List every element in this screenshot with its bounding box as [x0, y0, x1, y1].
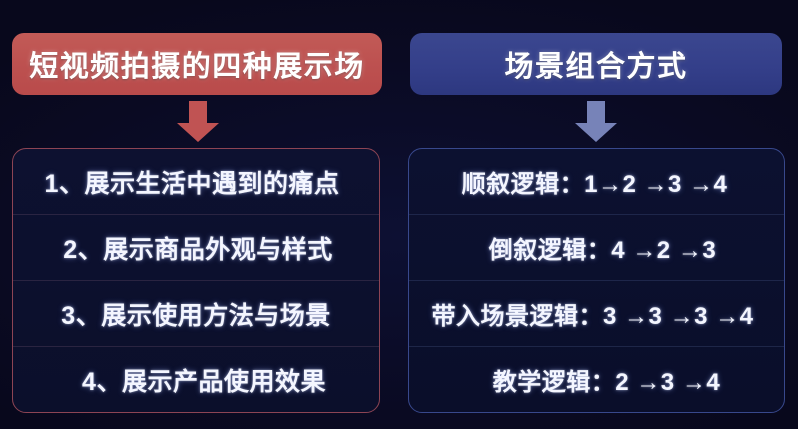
left-panel: 1、展示生活中遇到的痛点 2、展示商品外观与样式 3、展示使用方法与场景 4、展…	[12, 148, 380, 413]
list-item: 3、展示使用方法与场景	[13, 280, 379, 346]
right-item-label-4: 教学逻辑：2 →3 →4	[493, 362, 720, 397]
right-header-banner: 场景组合方式	[410, 33, 782, 95]
list-item: 4、展示产品使用效果	[13, 346, 379, 412]
slide-canvas: 短视频拍摄的四种展示场 1、展示生活中遇到的痛点 2、展示商品外观与样式 3、展…	[0, 0, 798, 429]
left-header-title: 短视频拍摄的四种展示场	[29, 43, 365, 85]
list-item: 顺叙逻辑：1→2 →3 →4	[409, 149, 784, 214]
list-item: 1、展示生活中遇到的痛点	[13, 149, 379, 214]
list-item: 倒叙逻辑：4 →2 →3	[409, 214, 784, 280]
left-item-label-4: 4、展示产品使用效果	[82, 362, 326, 398]
left-item-label-1: 1、展示生活中遇到的痛点	[45, 164, 340, 200]
left-down-arrow-icon	[176, 101, 220, 143]
right-down-arrow-icon	[574, 101, 618, 143]
left-header-banner: 短视频拍摄的四种展示场	[12, 33, 382, 95]
list-item: 带入场景逻辑：3 →3 →3 →4	[409, 280, 784, 346]
right-panel: 顺叙逻辑：1→2 →3 →4 倒叙逻辑：4 →2 →3 带入场景逻辑：3 →3 …	[408, 148, 785, 413]
right-item-label-1: 顺叙逻辑：1→2 →3 →4	[462, 164, 728, 199]
left-item-label-2: 2、展示商品外观与样式	[63, 230, 332, 266]
list-item: 教学逻辑：2 →3 →4	[409, 346, 784, 412]
list-item: 2、展示商品外观与样式	[13, 214, 379, 280]
right-header-title: 场景组合方式	[504, 43, 687, 85]
right-item-label-2: 倒叙逻辑：4 →2 →3	[489, 230, 716, 265]
right-item-label-3: 带入场景逻辑：3 →3 →3 →4	[432, 296, 754, 331]
left-item-label-3: 3、展示使用方法与场景	[61, 296, 330, 332]
